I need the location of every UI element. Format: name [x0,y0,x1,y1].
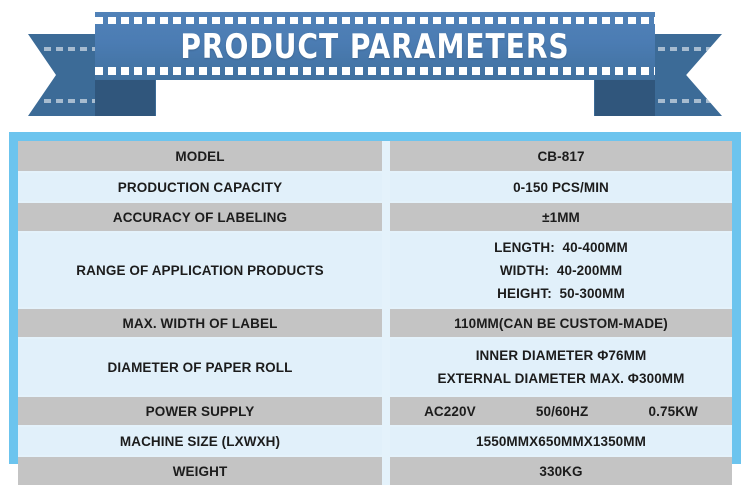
table-column-divider [382,339,390,395]
ribbon-stitch-top [95,17,655,24]
table-column-divider [382,427,390,455]
table-row: MACHINE SIZE (LXWXH)1550MMX650MMX1350MM [18,427,732,455]
table-cell-value: AC220V50/60HZ0.75KW [390,397,732,425]
table-row: MODELCB-817 [18,141,732,171]
table-cell-value: LENGTH: 40-400MMWIDTH: 40-200MMHEIGHT: 5… [390,233,732,307]
table-cell-label: WEIGHT [18,457,382,485]
table-cell-value-part: 50/60HZ [536,404,588,419]
table-column-divider [382,141,390,171]
table-cell-value-line: LENGTH: 40-400MM [494,240,628,255]
table-cell-label: PRODUCTION CAPACITY [18,173,382,201]
table-row: POWER SUPPLYAC220V50/60HZ0.75KW [18,397,732,425]
table-cell-label: MACHINE SIZE (LXWXH) [18,427,382,455]
table-cell-value-line: WIDTH: 40-200MM [500,263,622,278]
page-title: PRODUCT PARAMETERS [117,29,632,65]
table-cell-value-lines: LENGTH: 40-400MMWIDTH: 40-200MMHEIGHT: 5… [394,240,728,301]
table-cell-value-part: 0.75KW [649,404,698,419]
table-cell-label: ACCURACY OF LABELING [18,203,382,231]
table-cell-label: MODEL [18,141,382,171]
table-row: MAX. WIDTH OF LABEL110MM(CAN BE CUSTOM-M… [18,309,732,337]
table-cell-value: 330KG [390,457,732,485]
ribbon-fold-shadow-right [595,78,655,116]
table-row: WEIGHT330KG [18,457,732,485]
ribbon-fold-shadow-left [95,78,155,116]
banner: PRODUCT PARAMETERS [0,0,750,125]
table-cell-value: 0-150 PCS/MIN [390,173,732,201]
table-row: DIAMETER OF PAPER ROLLINNER DIAMETER Φ76… [18,339,732,395]
parameters-table-frame: MODELCB-817PRODUCTION CAPACITY0-150 PCS/… [9,132,741,464]
table-cell-value-lines: INNER DIAMETER Φ76MMEXTERNAL DIAMETER MA… [394,348,728,386]
table-row: PRODUCTION CAPACITY0-150 PCS/MIN [18,173,732,201]
table-cell-label: DIAMETER OF PAPER ROLL [18,339,382,395]
table-cell-label: POWER SUPPLY [18,397,382,425]
table-column-divider [382,203,390,231]
table-cell-value-part: AC220V [424,404,476,419]
table-row: RANGE OF APPLICATION PRODUCTSLENGTH: 40-… [18,233,732,307]
table-column-divider [382,457,390,485]
table-column-divider [382,309,390,337]
table-cell-value-line: INNER DIAMETER Φ76MM [476,348,647,363]
ribbon-body: PRODUCT PARAMETERS [95,12,655,80]
table-cell-value-line: EXTERNAL DIAMETER MAX. Φ300MM [437,371,684,386]
parameters-table: MODELCB-817PRODUCTION CAPACITY0-150 PCS/… [18,141,732,455]
ribbon-stitch-bottom [95,67,655,75]
table-column-divider [382,173,390,201]
table-cell-value: 1550MMX650MMX1350MM [390,427,732,455]
table-row: ACCURACY OF LABELING±1MM [18,203,732,231]
table-cell-label: RANGE OF APPLICATION PRODUCTS [18,233,382,307]
table-cell-label: MAX. WIDTH OF LABEL [18,309,382,337]
table-column-divider [382,233,390,307]
table-cell-value-line: HEIGHT: 50-300MM [497,286,625,301]
table-cell-value: INNER DIAMETER Φ76MMEXTERNAL DIAMETER MA… [390,339,732,395]
table-cell-value: 110MM(CAN BE CUSTOM-MADE) [390,309,732,337]
table-cell-value-columns: AC220V50/60HZ0.75KW [394,404,728,419]
table-column-divider [382,397,390,425]
table-cell-value: ±1MM [390,203,732,231]
product-parameters-page: PRODUCT PARAMETERS MODELCB-817PRODUCTION… [0,0,750,480]
table-cell-value: CB-817 [390,141,732,171]
